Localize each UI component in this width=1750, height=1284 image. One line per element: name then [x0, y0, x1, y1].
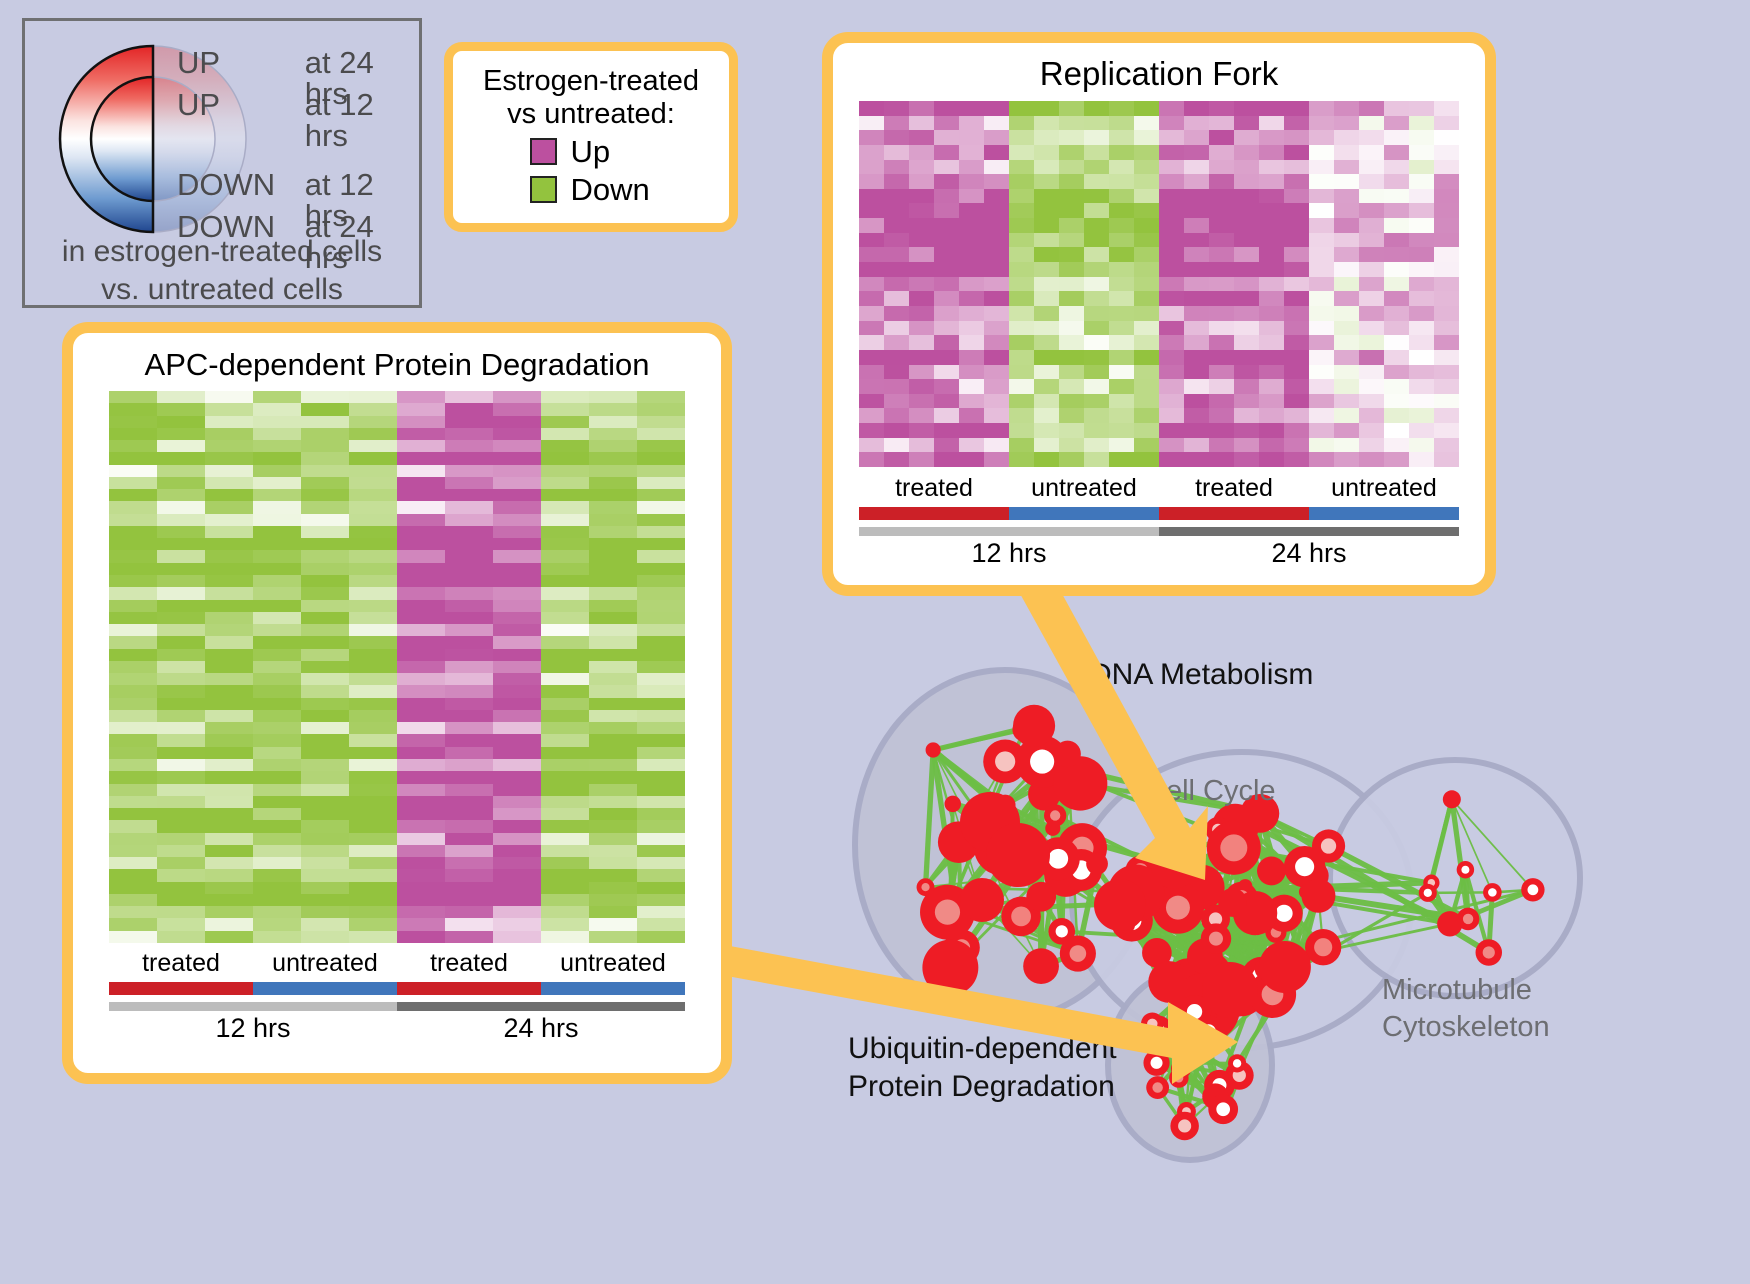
heatmap-cell — [301, 685, 349, 697]
heatmap-cell — [205, 624, 253, 636]
heatmap-cell — [1359, 116, 1384, 131]
up-swatch — [530, 138, 557, 165]
heatmap-cell — [1134, 189, 1159, 204]
heatmap-cell — [884, 218, 909, 233]
heatmap-cell — [1309, 321, 1334, 336]
heatmap-cell — [1159, 291, 1184, 306]
heatmap-cell — [541, 857, 589, 869]
heatmap-cell — [1259, 277, 1284, 292]
heatmap-cell — [397, 759, 445, 771]
heatmap-cell — [253, 550, 301, 562]
heatmap-cell — [1384, 277, 1409, 292]
heatmap-cell — [637, 857, 685, 869]
heatmap-cell — [1234, 365, 1259, 380]
heatmap-cell — [445, 734, 493, 746]
heatmap-cell — [1009, 277, 1034, 292]
heatmap-cell — [1034, 160, 1059, 175]
heatmap-cell — [157, 685, 205, 697]
heatmap-cell — [397, 685, 445, 697]
heatmap-cell — [109, 734, 157, 746]
heatmap-cell — [397, 612, 445, 624]
heatmap-cell — [589, 465, 637, 477]
heatmap-cell — [1409, 233, 1434, 248]
heatmap-cell — [589, 428, 637, 440]
heatmap-cell — [859, 423, 884, 438]
condition-bar — [541, 982, 685, 995]
heatmap-cell — [253, 722, 301, 734]
heatmap-cell — [349, 882, 397, 894]
heatmap-cell — [109, 857, 157, 869]
heatmap-cell — [109, 771, 157, 783]
heatmap-cell — [301, 661, 349, 673]
heatmap-cell — [884, 189, 909, 204]
heatmap-cell — [859, 277, 884, 292]
heatmap-cell — [1234, 291, 1259, 306]
condition-bar — [397, 982, 541, 995]
heatmap-cell — [349, 673, 397, 685]
heatmap-cell — [541, 600, 589, 612]
updown-legend-box: Estrogen-treated vs untreated: Up Down — [444, 42, 738, 232]
heatmap-cell — [1334, 116, 1359, 131]
heatmap-cell — [541, 685, 589, 697]
heatmap-cell — [984, 321, 1009, 336]
heatmap-cell — [959, 408, 984, 423]
heatmap-cell — [884, 350, 909, 365]
heatmap-cell — [541, 403, 589, 415]
heatmap-cell — [1409, 262, 1434, 277]
heatmap-cell — [493, 759, 541, 771]
heatmap-cell — [1384, 452, 1409, 467]
heatmap-cell — [1309, 394, 1334, 409]
heatmap-cell — [205, 636, 253, 648]
heatmap-cell — [984, 189, 1009, 204]
heatmap-cell — [1059, 365, 1084, 380]
heatmap-cell — [1334, 438, 1359, 453]
heatmap-cell — [301, 833, 349, 845]
heatmap-cell — [109, 636, 157, 648]
heatmap-cell — [301, 820, 349, 832]
heatmap-cell — [1409, 394, 1434, 409]
heatmap-cell — [1359, 321, 1384, 336]
heatmap-cell — [909, 130, 934, 145]
network-node — [1259, 941, 1311, 993]
heatmap-cell — [959, 365, 984, 380]
heatmap-cell — [397, 489, 445, 501]
heatmap-cell — [157, 477, 205, 489]
heatmap-cell — [589, 833, 637, 845]
heatmap-cell — [445, 550, 493, 562]
heatmap-cell — [1309, 423, 1334, 438]
heatmap-cell — [109, 416, 157, 428]
heatmap-cell — [1009, 350, 1034, 365]
heatmap-cell — [157, 722, 205, 734]
heatmap-cell — [1109, 145, 1134, 160]
heatmap-cell — [1184, 306, 1209, 321]
network-node-core — [1488, 888, 1497, 897]
heatmap-cell — [884, 379, 909, 394]
heatmap-cell — [1259, 174, 1284, 189]
heatmap-cell — [1284, 335, 1309, 350]
heatmap-cell — [157, 759, 205, 771]
heatmap-cell — [1384, 335, 1409, 350]
heatmap-cell — [205, 759, 253, 771]
heatmap-cell — [909, 203, 934, 218]
heatmap-cell — [1234, 335, 1259, 350]
heatmap-cell — [1084, 408, 1109, 423]
heatmap-cell — [1059, 160, 1084, 175]
heatmap-cell — [1359, 306, 1384, 321]
heatmap-cell — [934, 233, 959, 248]
network-node — [1094, 879, 1146, 931]
heatmap-cell — [109, 465, 157, 477]
cluster-label-line1: Microtubule — [1382, 972, 1550, 1009]
heatmap-cell — [301, 784, 349, 796]
heatmap-cell — [205, 882, 253, 894]
heatmap-cell — [1384, 350, 1409, 365]
heatmap-cell — [157, 747, 205, 759]
heatmap-cell — [397, 428, 445, 440]
heatmap-cell — [349, 477, 397, 489]
heatmap-cell — [1109, 321, 1134, 336]
heatmap-cell — [637, 710, 685, 722]
heatmap-cell — [541, 465, 589, 477]
heatmap-cell — [349, 514, 397, 526]
heatmap-cell — [934, 379, 959, 394]
heatmap-cell — [253, 869, 301, 881]
heatmap-cell — [1334, 160, 1359, 175]
heatmap-cell — [637, 673, 685, 685]
heatmap-cell — [1259, 452, 1284, 467]
heatmap-cell — [1034, 365, 1059, 380]
heatmap-cell — [397, 636, 445, 648]
heatmap-cell — [397, 563, 445, 575]
heatmap-cell — [205, 673, 253, 685]
heatmap-cell — [589, 452, 637, 464]
heatmap-cell — [1009, 408, 1034, 423]
heatmap-cell — [301, 698, 349, 710]
heatmap-cell — [1209, 423, 1234, 438]
heatmap-cell — [1234, 101, 1259, 116]
heatmap-cell — [157, 612, 205, 624]
heatmap-cell — [1259, 247, 1284, 262]
heatmap-cell — [1134, 423, 1159, 438]
heatmap-cell — [157, 931, 205, 943]
heatmap-cell — [301, 636, 349, 648]
heatmap-cell — [589, 440, 637, 452]
heatmap-cell — [157, 452, 205, 464]
heatmap-cell — [1234, 189, 1259, 204]
heatmap-cell — [1009, 262, 1034, 277]
heatmap-cell — [205, 452, 253, 464]
heatmap-cell — [253, 833, 301, 845]
heatmap-cell — [1109, 306, 1134, 321]
heatmap-cell — [253, 673, 301, 685]
heatmap-cell — [637, 636, 685, 648]
heatmap-cell — [1059, 277, 1084, 292]
heatmap-cell — [205, 661, 253, 673]
heatmap-cell — [1259, 101, 1284, 116]
heatmap-cell — [1084, 116, 1109, 131]
heatmap-cell — [445, 403, 493, 415]
heatmap-cell — [637, 563, 685, 575]
heatmap-cell — [1109, 394, 1134, 409]
heatmap-cell — [1209, 438, 1234, 453]
heatmap-cell — [541, 514, 589, 526]
heatmap-cell — [1434, 101, 1459, 116]
heatmap-cell — [909, 335, 934, 350]
heatmap-cell — [397, 649, 445, 661]
heatmap-cell — [1359, 189, 1384, 204]
heatmap-cell — [253, 882, 301, 894]
heatmap-cell — [157, 869, 205, 881]
heatmap-cell — [1184, 101, 1209, 116]
heatmap-cell — [1009, 379, 1034, 394]
heatmap-cell — [859, 174, 884, 189]
heatmap-cell — [934, 335, 959, 350]
heatmap-cell — [959, 233, 984, 248]
heatmap-cell — [589, 747, 637, 759]
heatmap-cell — [349, 428, 397, 440]
heatmap-cell — [1284, 321, 1309, 336]
heatmap-cell — [109, 685, 157, 697]
heatmap-cell — [909, 262, 934, 277]
heatmap-cell — [301, 563, 349, 575]
heatmap-cell — [1209, 394, 1234, 409]
heatmap-cell — [1359, 101, 1384, 116]
heatmap-cell — [934, 130, 959, 145]
heatmap-cell — [909, 423, 934, 438]
heatmap-cell — [859, 116, 884, 131]
heatmap-cell — [1334, 365, 1359, 380]
heatmap-cell — [1034, 218, 1059, 233]
heatmap-cell — [589, 673, 637, 685]
heatmap-cell — [984, 101, 1009, 116]
heatmap-cell — [637, 918, 685, 930]
heatmap-cell — [349, 747, 397, 759]
heatmap-cell — [1334, 350, 1359, 365]
heatmap-cell — [1234, 394, 1259, 409]
heatmap-cell — [959, 203, 984, 218]
heatmap-cell — [205, 501, 253, 513]
heatmap-cell — [1434, 394, 1459, 409]
heatmap-cell — [1009, 218, 1034, 233]
heatmap-cell — [157, 894, 205, 906]
heatmap-cell — [109, 698, 157, 710]
heatmap-cell — [1384, 423, 1409, 438]
heatmap-cell — [301, 391, 349, 403]
heatmap-cell — [205, 906, 253, 918]
heatmap-cell — [1059, 291, 1084, 306]
heatmap-cell — [109, 906, 157, 918]
heatmap-cell — [859, 233, 884, 248]
heatmap-cell — [109, 931, 157, 943]
heatmap-cell — [109, 661, 157, 673]
cluster-label-ubiquitin-degradation: Ubiquitin-dependent Protein Degradation — [848, 1030, 1117, 1107]
network-node — [1443, 790, 1461, 808]
heatmap-cell — [253, 452, 301, 464]
heatmap-cell — [1284, 160, 1309, 175]
heatmap-cell — [1059, 101, 1084, 116]
network-node — [1086, 853, 1108, 875]
heatmap-cell — [1009, 394, 1034, 409]
heatmap-cell — [445, 918, 493, 930]
heatmap-cell — [205, 563, 253, 575]
heatmap-cell — [1359, 145, 1384, 160]
heatmap-cell — [1234, 379, 1259, 394]
heatmap-cell — [1109, 335, 1134, 350]
heatmap-cell — [1359, 350, 1384, 365]
network-node — [960, 878, 1004, 922]
heatmap-cell — [1009, 247, 1034, 262]
heatmap-cell — [493, 734, 541, 746]
network-node-core — [1050, 810, 1060, 820]
heatmap-cell — [909, 438, 934, 453]
heatmap-cell — [493, 550, 541, 562]
heatmap-cell — [589, 906, 637, 918]
heatmap-cell — [1159, 452, 1184, 467]
heatmap-cell — [1084, 174, 1109, 189]
heatmap-cell — [1259, 379, 1284, 394]
heatmap-cell — [884, 116, 909, 131]
heatmap-cell — [445, 882, 493, 894]
heatmap-cell — [1284, 116, 1309, 131]
heatmap-cell — [589, 563, 637, 575]
heatmap-cell — [1409, 174, 1434, 189]
heatmap-cell — [1309, 160, 1334, 175]
heatmap-cell — [157, 918, 205, 930]
heatmap-cell — [1284, 365, 1309, 380]
heatmap-cell — [109, 440, 157, 452]
heatmap-cell — [493, 391, 541, 403]
legend-item-up: Up — [453, 134, 729, 170]
heatmap-cell — [1384, 189, 1409, 204]
heatmap-cell — [1209, 101, 1234, 116]
heatmap-cell — [959, 438, 984, 453]
heatmap-cell — [493, 869, 541, 881]
heatmap-cell — [984, 277, 1009, 292]
heatmap-cell — [301, 894, 349, 906]
heatmap-cell — [445, 440, 493, 452]
heatmap-cell — [1059, 116, 1084, 131]
heatmap-cell — [637, 416, 685, 428]
heatmap-cell — [1409, 203, 1434, 218]
heatmap-cell — [109, 796, 157, 808]
heatmap-cell — [959, 350, 984, 365]
heatmap-cell — [349, 440, 397, 452]
heatmap-cell — [349, 575, 397, 587]
heatmap-cell — [589, 845, 637, 857]
heatmap-cell — [1334, 379, 1359, 394]
heatmap-cell — [637, 894, 685, 906]
heatmap-cell — [1284, 350, 1309, 365]
heatmap-cell — [1384, 174, 1409, 189]
heatmap-cell — [1284, 174, 1309, 189]
heatmap-cell — [1409, 145, 1434, 160]
heatmap-cell — [959, 291, 984, 306]
heatmap-cell — [959, 174, 984, 189]
heatmap-cell — [1034, 116, 1059, 131]
heatmap-cell — [1309, 306, 1334, 321]
timepoint-labels: 12 hrs24 hrs — [859, 538, 1459, 569]
heatmap-cell — [909, 408, 934, 423]
heatmap-cell — [984, 116, 1009, 131]
heatmap-cell — [909, 379, 934, 394]
heatmap-cell — [253, 587, 301, 599]
heatmap-cell — [349, 796, 397, 808]
heatmap-cell — [909, 101, 934, 116]
heatmap-cell — [157, 833, 205, 845]
heatmap-cell — [1184, 277, 1209, 292]
heatmap-cell — [884, 233, 909, 248]
heatmap-cell — [1209, 365, 1234, 380]
heatmap-cell — [1434, 277, 1459, 292]
network-node-core — [1166, 896, 1190, 920]
heatmap-cell — [253, 514, 301, 526]
heatmap-cell — [397, 452, 445, 464]
heatmap-cell — [205, 820, 253, 832]
heatmap-cell — [934, 321, 959, 336]
heatmap-cell — [493, 906, 541, 918]
heatmap-cell — [205, 403, 253, 415]
heatmap-cell — [301, 649, 349, 661]
heatmap-cell — [1209, 379, 1234, 394]
network-node-core — [1216, 1102, 1230, 1116]
heatmap-cell — [884, 321, 909, 336]
heatmap-cell — [1059, 203, 1084, 218]
heatmap-cell — [1334, 247, 1359, 262]
heatmap-cell — [589, 514, 637, 526]
heatmap-cell — [1134, 350, 1159, 365]
heatmap-cell — [1384, 379, 1409, 394]
heatmap-cell — [589, 575, 637, 587]
heatmap-cell — [589, 489, 637, 501]
network-node — [1151, 843, 1197, 889]
heatmap-cell — [1434, 365, 1459, 380]
heatmap-cell — [1284, 379, 1309, 394]
condition-label: untreated — [541, 949, 685, 978]
heatmap-cell — [859, 247, 884, 262]
heatmap-cell — [253, 796, 301, 808]
heatmap-cell — [1259, 350, 1284, 365]
heatmap-cell — [493, 403, 541, 415]
heatmap-cell — [1034, 174, 1059, 189]
heatmap-cell — [909, 277, 934, 292]
heatmap-cell — [109, 784, 157, 796]
heatmap-cell — [445, 587, 493, 599]
heatmap-cell — [301, 477, 349, 489]
heatmap-cell — [397, 796, 445, 808]
heatmap-cell — [1034, 452, 1059, 467]
heatmap-cell — [589, 710, 637, 722]
network-node-core — [1528, 884, 1539, 895]
heatmap-cell — [1259, 408, 1284, 423]
heatmap-cell — [493, 624, 541, 636]
heatmap-cell — [157, 906, 205, 918]
heatmap-cell — [157, 845, 205, 857]
heatmap-cell — [541, 649, 589, 661]
heatmap-cell — [1059, 189, 1084, 204]
heatmap-cell — [1209, 160, 1234, 175]
heatmap-cell — [349, 820, 397, 832]
heatmap-cell — [349, 649, 397, 661]
heatmap-cell — [541, 784, 589, 796]
heatmap-cell — [301, 416, 349, 428]
heatmap-cell — [349, 698, 397, 710]
heatmap-cell — [301, 845, 349, 857]
heatmap-cell — [1209, 262, 1234, 277]
heatmap-cell — [1134, 130, 1159, 145]
heatmap-cell — [445, 563, 493, 575]
